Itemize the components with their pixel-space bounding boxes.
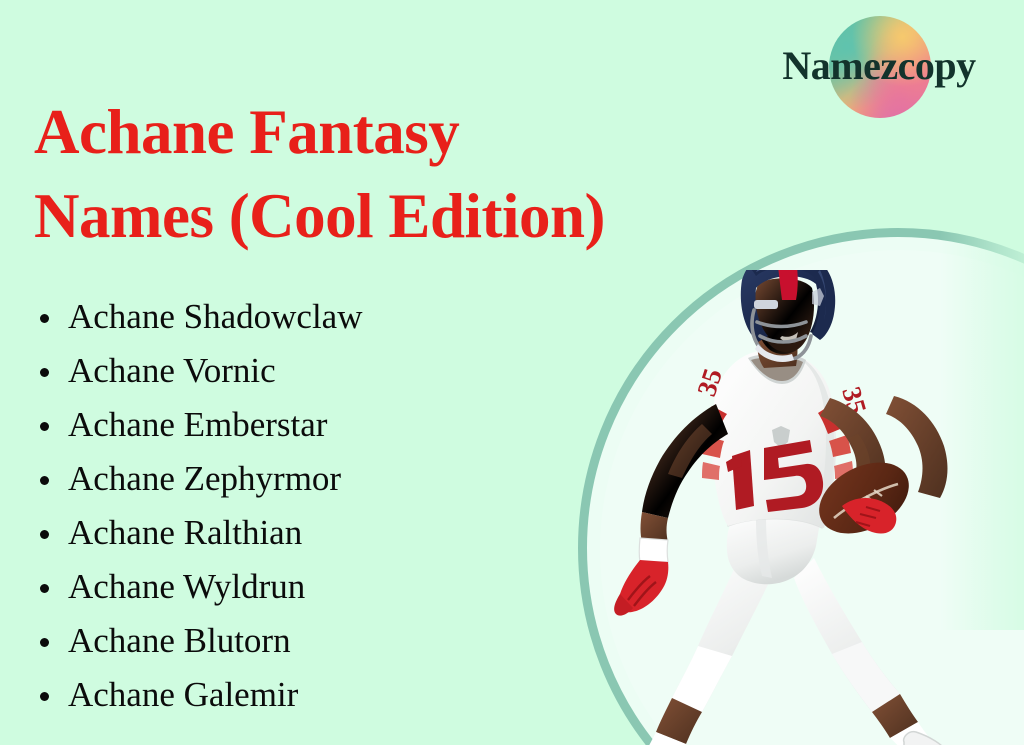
list-item: Achane Ralthian [30,506,590,560]
list-item-label: Achane Vornic [68,351,276,390]
page-title-line-2: Names (Cool Edition) [34,174,734,258]
brand-name: Namezcopy [756,42,1002,90]
list-item-label: Achane Ralthian [68,513,302,552]
bullet-icon [40,530,49,539]
bullet-icon [40,692,49,701]
list-item-label: Achane Blutorn [68,621,291,660]
list-item: Achane Zephyrmor [30,452,590,506]
list-item: Achane Blutorn [30,614,590,668]
fantasy-name-list: Achane Shadowclaw Achane Vornic Achane E… [30,290,590,722]
list-item-label: Achane Emberstar [68,405,327,444]
list-item-label: Achane Galemir [68,675,298,714]
bullet-icon [40,476,49,485]
list-item-label: Achane Wyldrun [68,567,305,606]
bullet-icon [40,638,49,647]
list-item-label: Achane Shadowclaw [68,297,362,336]
list-item: Achane Shadowclaw [30,290,590,344]
poster-canvas: 35 35 [0,0,1024,745]
list-item-label: Achane Zephyrmor [68,459,341,498]
bullet-icon [40,368,49,377]
page-title: Achane Fantasy Names (Cool Edition) [34,90,734,258]
bullet-icon [40,584,49,593]
brand-logo[interactable]: Namezcopy [756,12,1002,122]
football-player-illustration: 35 35 [606,270,1006,745]
bullet-icon [40,422,49,431]
list-item: Achane Emberstar [30,398,590,452]
list-item: Achane Vornic [30,344,590,398]
bullet-icon [40,314,49,323]
page-title-line-1: Achane Fantasy [34,90,734,174]
list-item: Achane Wyldrun [30,560,590,614]
list-item: Achane Galemir [30,668,590,722]
